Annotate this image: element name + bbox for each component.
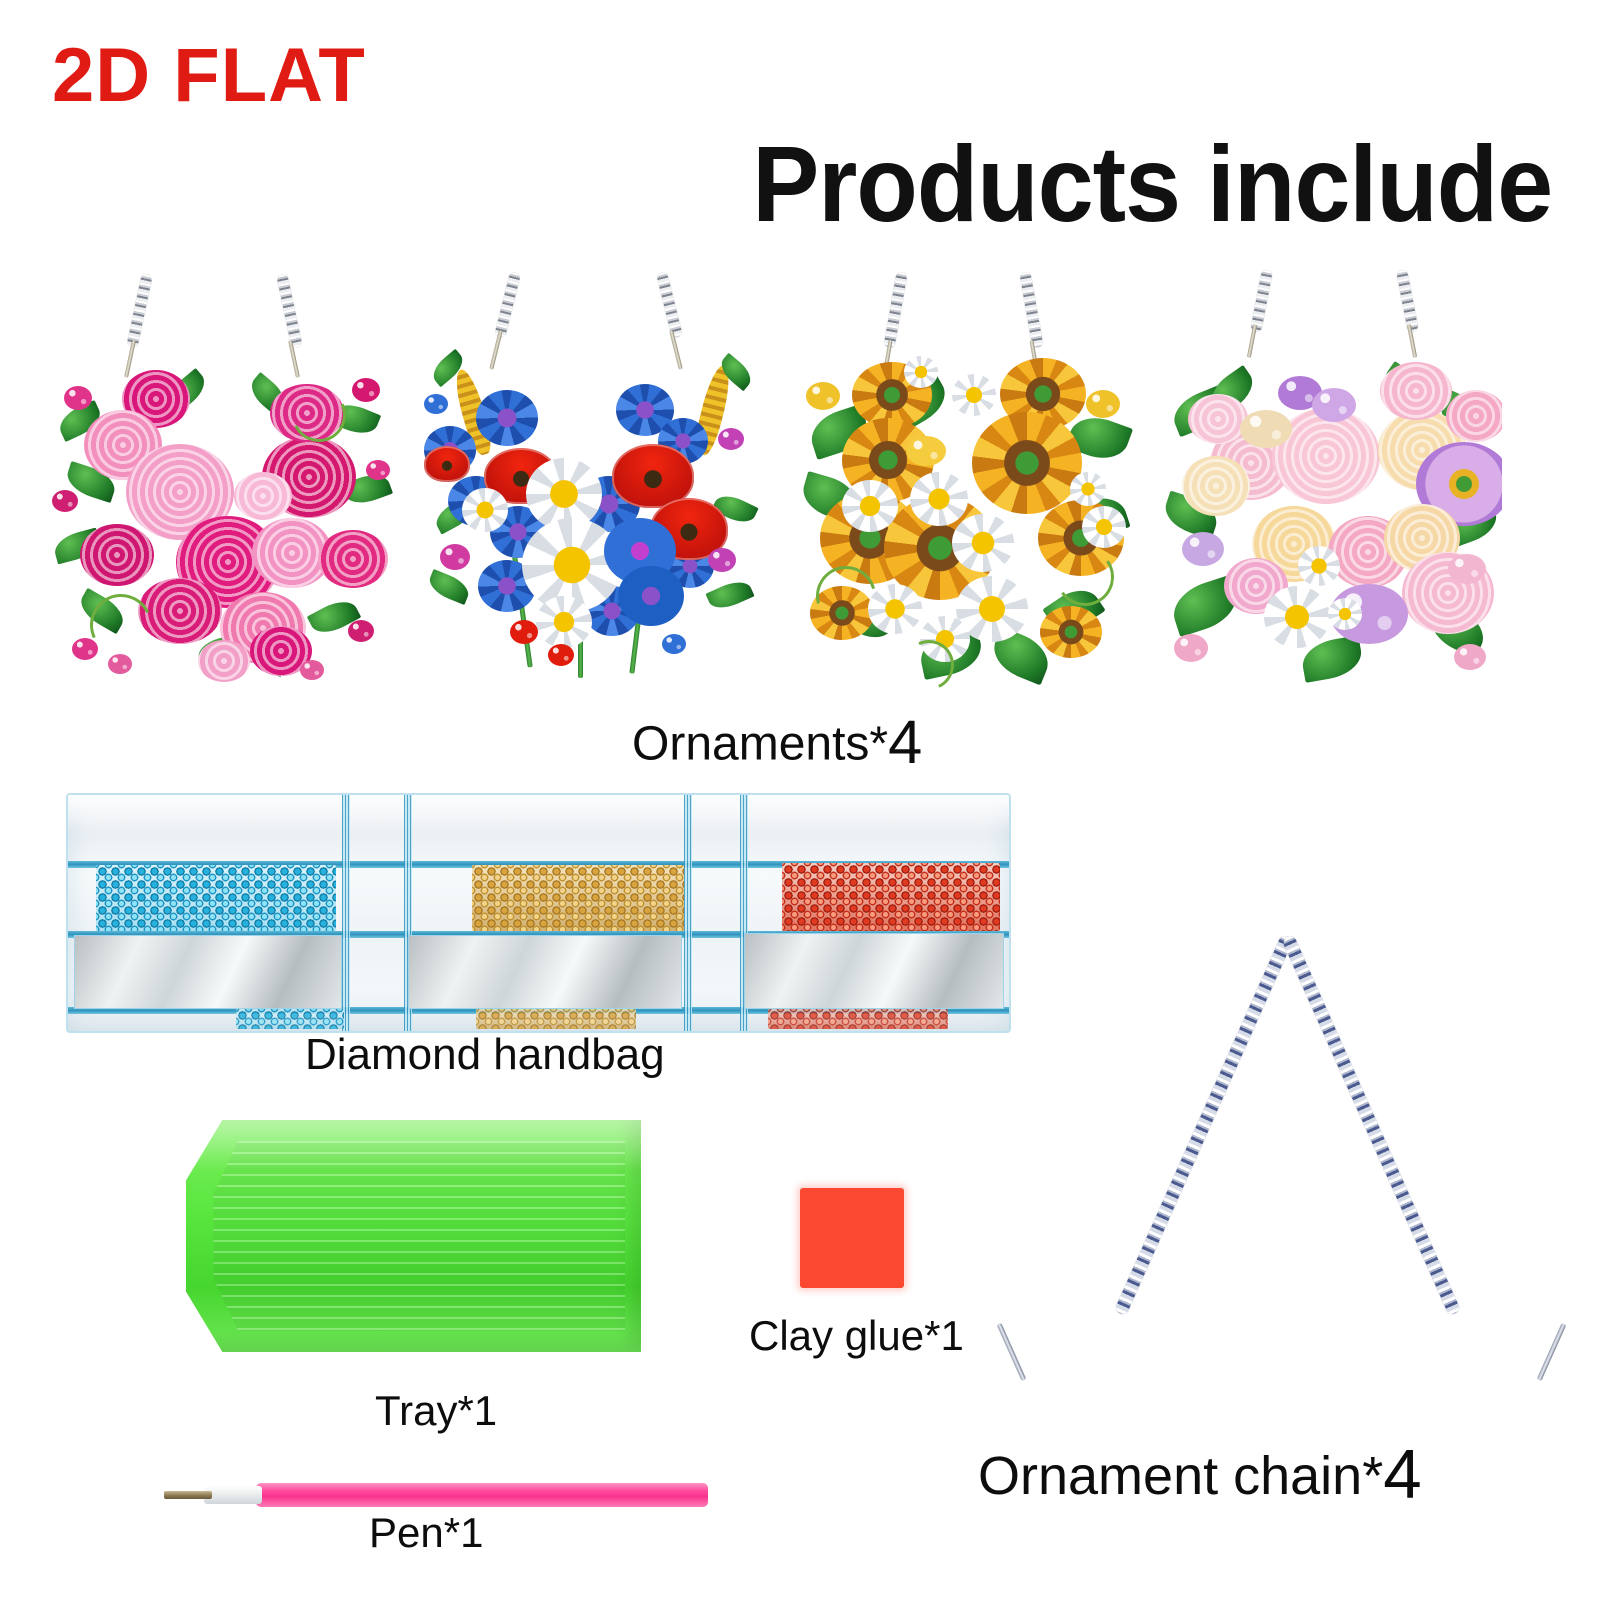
foil-pack-2 [408,935,682,1009]
foil-pack-1 [74,935,342,1009]
pen-collar [204,1486,262,1504]
chain-caption-label: Ornament chain* [978,1446,1383,1506]
foil-pack-3 [744,933,1004,1009]
tray-image [186,1120,641,1352]
ornament-chain-caption: Ornament chain*4 [978,1440,1422,1509]
tray-caption: Tray*1 [375,1390,497,1432]
ornament-pastel-roses [1152,268,1502,688]
drill-pen-image [148,1482,708,1508]
ornament-pink-roses [48,268,398,688]
ornament-artwork [786,348,1136,688]
ornament-artwork [48,348,398,688]
pen-barrel [256,1483,708,1507]
chain-caption-qty: 4 [1383,1435,1421,1513]
gem-spill-gold [476,1009,636,1029]
chain-leg-right [1114,934,1293,1316]
clay-glue-image [800,1188,904,1288]
product-collage: 2D FLAT Products include [0,0,1600,1600]
bag-gloss [68,795,1009,835]
ornament-chain-image [985,915,1585,1395]
chain-pin-right [1537,1323,1567,1382]
ornaments-caption: Ornaments*4 [632,712,922,773]
chain-pin-left [997,1323,1027,1382]
gem-compartment-gold [472,865,684,931]
gem-spill-red [768,1009,948,1029]
clay-glue-caption: Clay glue*1 [749,1315,964,1357]
pen-tip [164,1491,212,1499]
bag-divider-1 [342,795,350,1031]
ornament-sunflowers [786,268,1136,688]
ornament-wildflowers [418,268,768,688]
gem-compartment-red [782,863,1000,931]
chain-leg-left [1282,934,1461,1316]
ornament-artwork [418,348,768,688]
pen-caption: Pen*1 [369,1512,483,1554]
tray-lip-highlight [186,1120,641,1352]
gem-spill-blue [236,1009,344,1029]
ornament-artwork [1152,348,1502,688]
page-title: Products include [752,130,1552,238]
ornaments-caption-qty: 4 [888,708,922,777]
ornaments-caption-label: Ornaments* [632,717,888,770]
diamond-handbag-image [66,793,1011,1033]
bag-body [66,793,1011,1033]
gem-compartment-blue [96,865,336,931]
flat-badge: 2D FLAT [52,38,366,114]
handbag-caption: Diamond handbag [305,1033,665,1077]
bag-divider-3 [684,795,692,1031]
